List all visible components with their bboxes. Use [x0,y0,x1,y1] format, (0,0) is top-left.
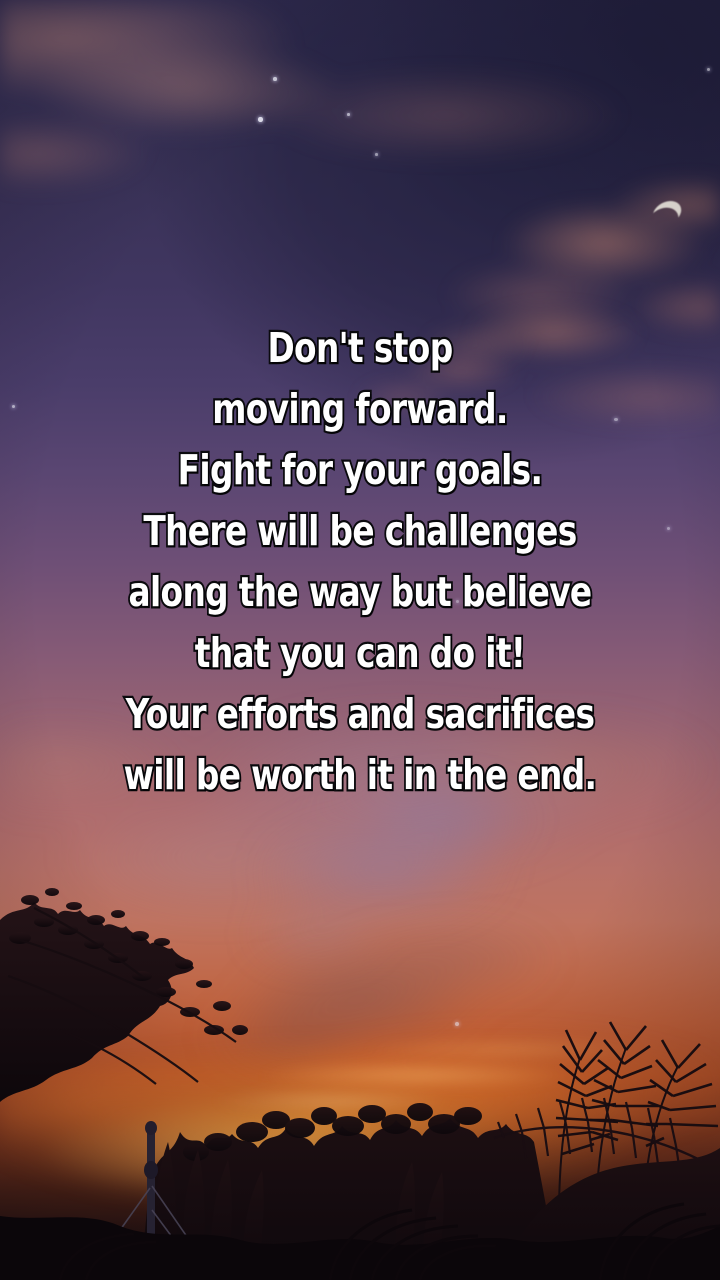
star [347,113,350,116]
foreground-silhouette-layer [0,880,720,1280]
silhouette-svg [0,880,720,1280]
quote-text-block: Don't stop moving forward. Fight for you… [0,318,720,806]
quote-line: Fight for your goals. [72,440,648,501]
quote-line: Your efforts and sacrifices [72,684,648,745]
quote-line: will be worth it in the end. [72,745,648,806]
quote-line: Don't stop [72,318,648,379]
quote-line: There will be challenges [72,501,648,562]
quote-line: that you can do it! [72,623,648,684]
quote-line: moving forward. [72,379,648,440]
star [273,77,277,81]
crescent-moon-icon [649,196,686,230]
eucalyptus-tree-left [0,888,248,1102]
quote-poster: Don't stop moving forward. Fight for you… [0,0,720,1280]
star [258,117,263,122]
star [707,68,710,71]
quote-line: along the way but believe [72,562,648,623]
star [375,153,378,156]
